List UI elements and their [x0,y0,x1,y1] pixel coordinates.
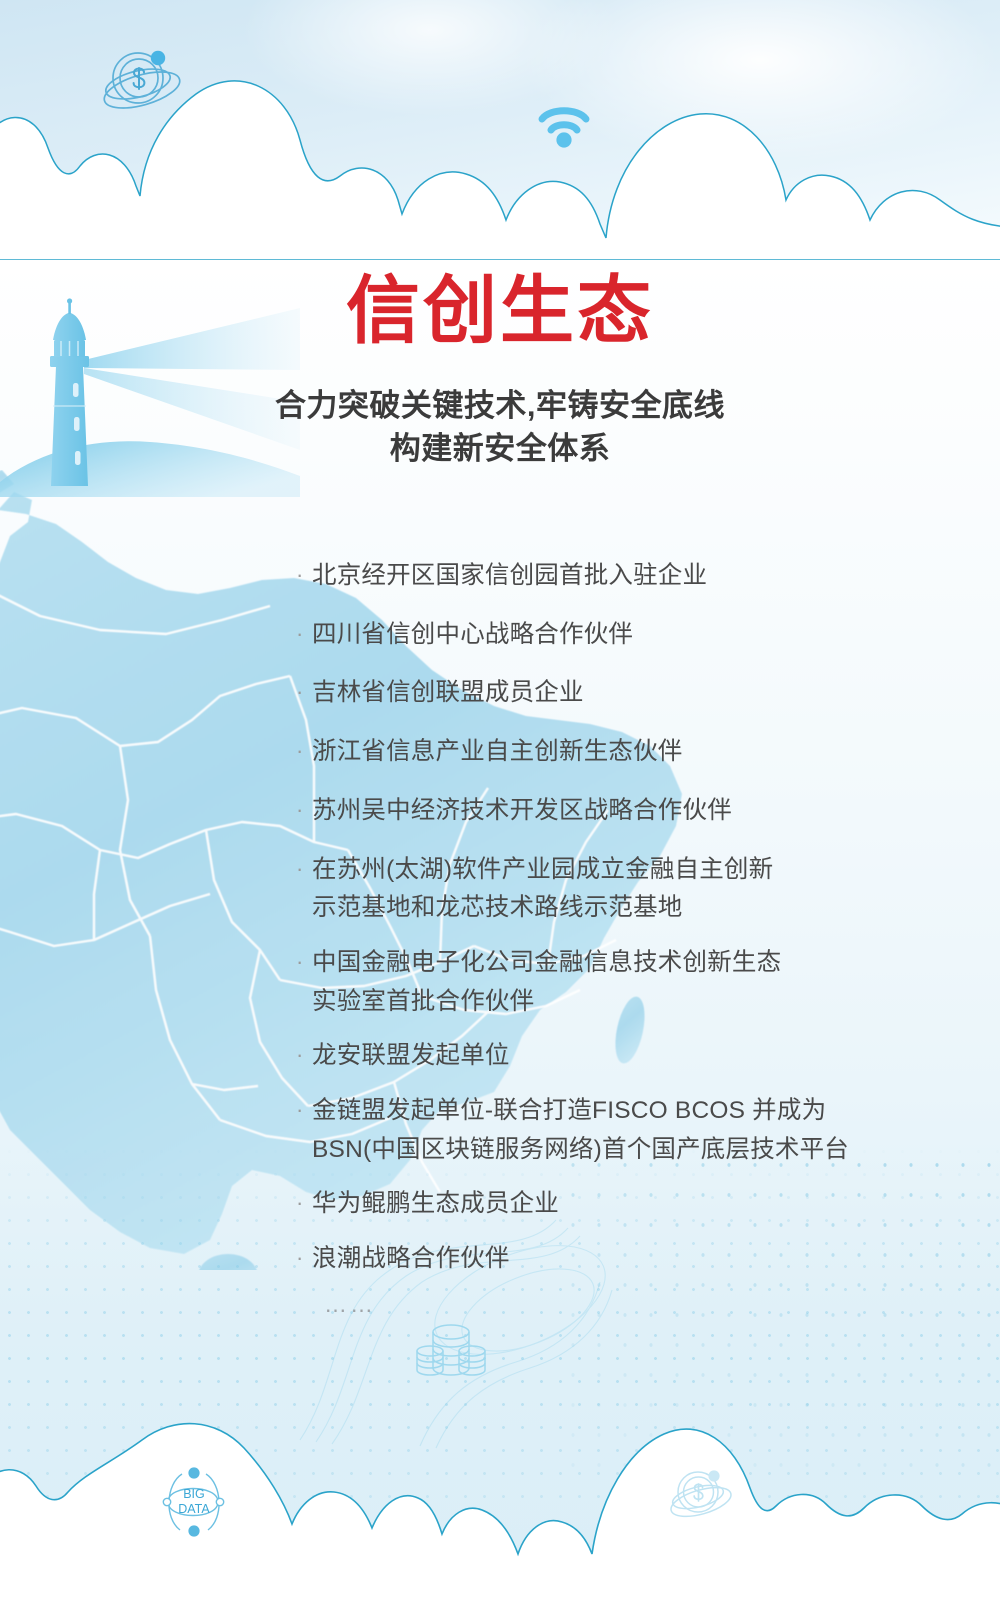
list-item-line: 吉林省信创联盟成员企业 [312,674,956,713]
page-subtitle: 合力突破关键技术,牢铸安全底线 构建新安全体系 [0,385,1000,471]
bullet-marker: · [296,674,312,710]
list-item: · 四川省信创中心战略合作伙伴 [296,616,956,655]
list-item-text: 华为鲲鹏生态成员企业 [312,1185,956,1224]
bullet-marker: · [296,1185,312,1221]
poster-canvas: BIG DATA 信创生态 合力突破关键技术,牢铸安全底线 构建新安全体系 [0,0,1000,1598]
list-ellipsis: …… [324,1291,956,1318]
list-item-text: 苏州吴中经济技术开发区战略合作伙伴 [312,792,956,831]
bullet-marker: · [296,557,312,593]
list-item-line: BSN(中国区块链服务网络)首个国产底层技术平台 [312,1131,956,1170]
list-item-line: 在苏州(太湖)软件产业园成立金融自主创新 [312,851,956,890]
list-item-line: 示范基地和龙芯技术路线示范基地 [312,889,956,928]
list-item: · 金链盟发起单位-联合打造FISCO BCOS 并成为 BSN(中国区块链服务… [296,1092,956,1169]
page-title: 信创生态 [0,272,1000,350]
bullet-marker: · [296,1240,312,1276]
list-item-line: 苏州吴中经济技术开发区战略合作伙伴 [312,792,956,831]
list-item-line: 华为鲲鹏生态成员企业 [312,1185,956,1224]
bullet-marker: · [296,1037,312,1073]
list-item: · 华为鲲鹏生态成员企业 [296,1185,956,1224]
list-item-line: 浪潮战略合作伙伴 [312,1240,956,1279]
poster-content: 信创生态 合力突破关键技术,牢铸安全底线 构建新安全体系 · 北京经开区国家信创… [0,0,1000,1598]
list-item-text: 金链盟发起单位-联合打造FISCO BCOS 并成为 BSN(中国区块链服务网络… [312,1092,956,1169]
list-item: · 浪潮战略合作伙伴 [296,1240,956,1279]
list-item: · 苏州吴中经济技术开发区战略合作伙伴 [296,792,956,831]
bullet-marker: · [296,792,312,828]
list-item-line: 中国金融电子化公司金融信息技术创新生态 [312,944,956,983]
list-item: · 中国金融电子化公司金融信息技术创新生态 实验室首批合作伙伴 [296,944,956,1021]
list-item-text: 浙江省信息产业自主创新生态伙伴 [312,733,956,772]
list-item-text: 在苏州(太湖)软件产业园成立金融自主创新 示范基地和龙芯技术路线示范基地 [312,851,956,928]
bullet-marker: · [296,733,312,769]
list-item-line: 实验室首批合作伙伴 [312,983,956,1022]
subtitle-line-2: 构建新安全体系 [0,428,1000,471]
list-item: · 龙安联盟发起单位 [296,1037,956,1076]
list-item-text: 浪潮战略合作伙伴 [312,1240,956,1279]
list-item-line: 四川省信创中心战略合作伙伴 [312,616,956,655]
bullet-marker: · [296,1092,312,1128]
list-item-text: 四川省信创中心战略合作伙伴 [312,616,956,655]
list-item-line: 龙安联盟发起单位 [312,1037,956,1076]
list-item-text: 吉林省信创联盟成员企业 [312,674,956,713]
list-item: · 吉林省信创联盟成员企业 [296,674,956,713]
list-item: · 北京经开区国家信创园首批入驻企业 [296,557,956,596]
bullet-marker: · [296,944,312,980]
achievements-list: · 北京经开区国家信创园首批入驻企业 · 四川省信创中心战略合作伙伴 · 吉林省… [296,557,956,1318]
bullet-marker: · [296,616,312,652]
list-item-text: 龙安联盟发起单位 [312,1037,956,1076]
list-item-line: 北京经开区国家信创园首批入驻企业 [312,557,956,596]
list-item: · 浙江省信息产业自主创新生态伙伴 [296,733,956,772]
list-item-line: 浙江省信息产业自主创新生态伙伴 [312,733,956,772]
list-item-text: 中国金融电子化公司金融信息技术创新生态 实验室首批合作伙伴 [312,944,956,1021]
bullet-marker: · [296,851,312,887]
list-item-text: 北京经开区国家信创园首批入驻企业 [312,557,956,596]
list-item: · 在苏州(太湖)软件产业园成立金融自主创新 示范基地和龙芯技术路线示范基地 [296,851,956,928]
list-item-line: 金链盟发起单位-联合打造FISCO BCOS 并成为 [312,1092,956,1131]
subtitle-line-1: 合力突破关键技术,牢铸安全底线 [275,388,725,423]
